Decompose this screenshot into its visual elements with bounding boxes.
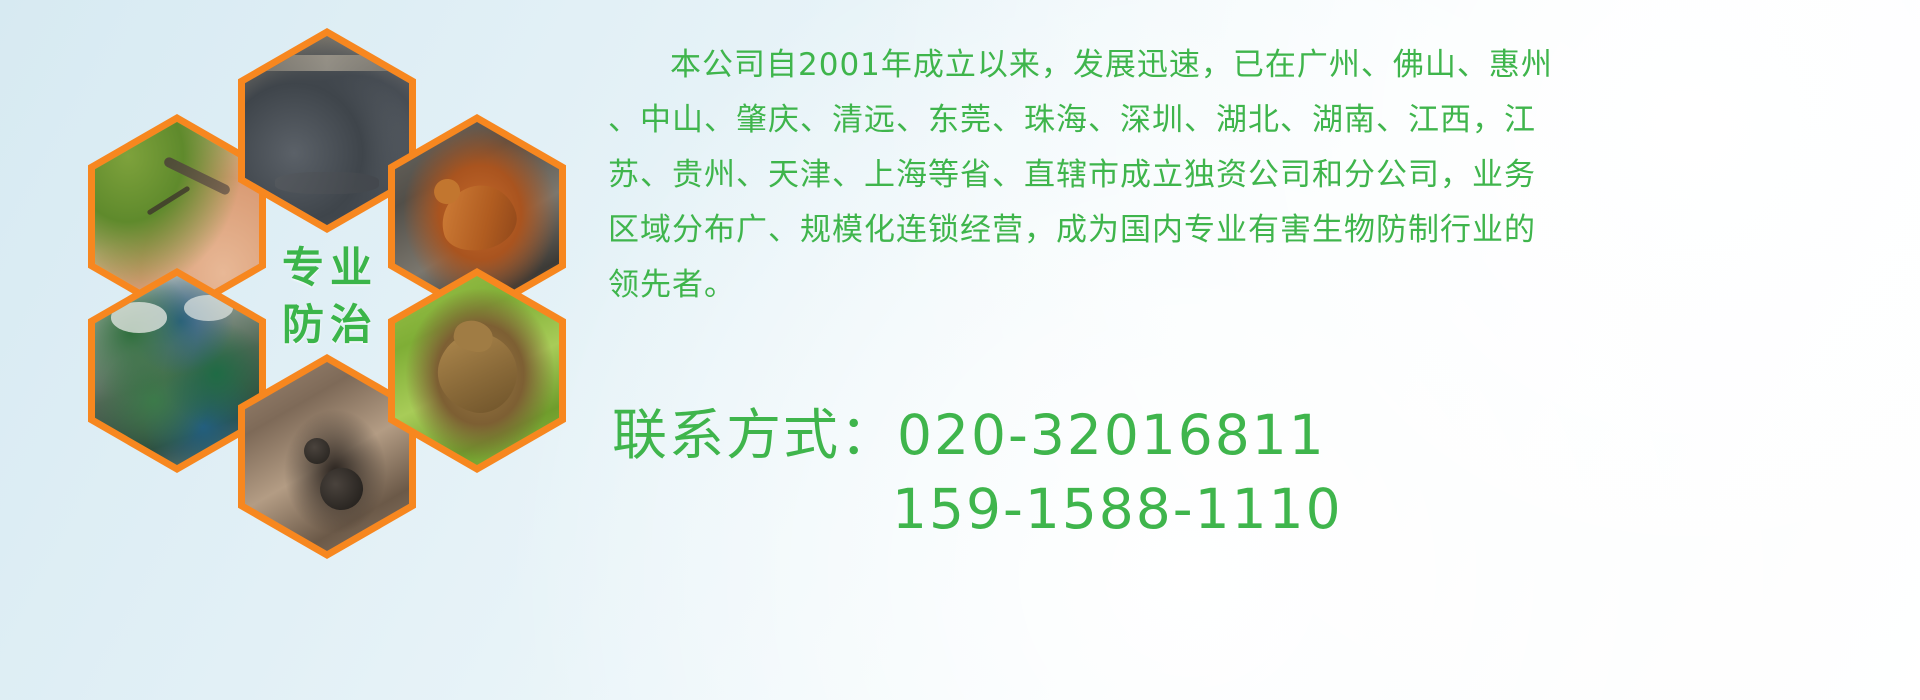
intro-line-5: 领先者。	[608, 258, 1898, 313]
contact-label: 联系方式：	[612, 403, 897, 467]
intro-line-4: 区域分布广、规模化连锁经营，成为国内专业有害生物防制行业的	[608, 203, 1898, 258]
hex-image-stinkbug	[395, 276, 559, 465]
contact-block: 联系方式：020-32016811 159-1588-1110	[612, 398, 1912, 546]
contact-phone-secondary[interactable]: 159-1588-1110	[892, 477, 1343, 541]
slogan-line-2: 防治	[276, 297, 378, 353]
flies-photo	[95, 276, 259, 465]
stinkbug-photo	[395, 276, 559, 465]
promo-banner: 专业 防治 本公司自2001年成立以来，发展迅速，已在广州、佛山、惠州 、中山、…	[0, 0, 1920, 700]
contact-secondary-row: 159-1588-1110	[612, 472, 1912, 546]
slogan-line-1: 专业	[276, 240, 378, 296]
contact-primary-row: 联系方式：020-32016811	[612, 398, 1912, 472]
hex-cell-slogan: 专业 防治	[238, 194, 416, 399]
company-intro-paragraph: 本公司自2001年成立以来，发展迅速，已在广州、佛山、惠州 、中山、肇庆、清远、…	[608, 38, 1898, 313]
intro-line-2: 、中山、肇庆、清远、东莞、珠海、深圳、湖北、湖南、江西，江	[608, 93, 1898, 148]
intro-line-1: 本公司自2001年成立以来，发展迅速，已在广州、佛山、惠州	[608, 38, 1898, 93]
intro-line-3: 苏、贵州、天津、上海等省、直辖市成立独资公司和分公司，业务	[608, 148, 1898, 203]
honeycomb-gallery: 专业 防治	[88, 6, 588, 566]
hex-image-flies	[95, 276, 259, 465]
contact-phone-primary[interactable]: 020-32016811	[897, 403, 1326, 467]
